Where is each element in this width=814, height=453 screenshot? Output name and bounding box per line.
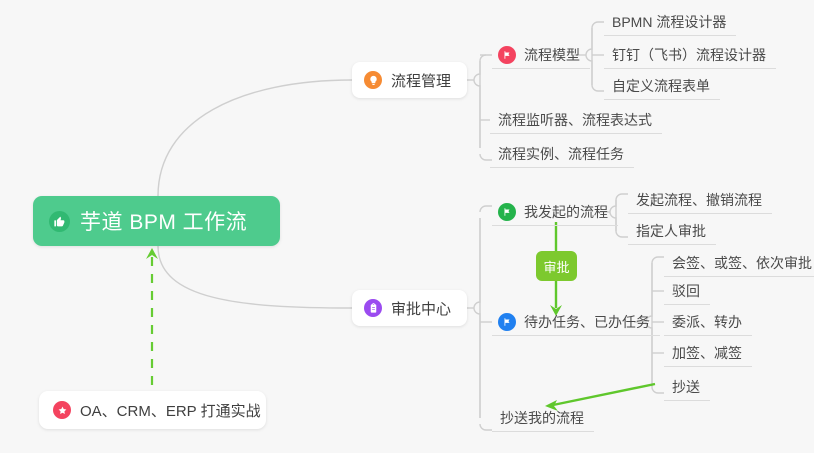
node-label: 我发起的流程 (524, 202, 608, 222)
node-reject[interactable]: 驳回 (664, 277, 710, 305)
node-label: 自定义流程表单 (612, 76, 710, 96)
root-node[interactable]: 芋道 BPM 工作流 (33, 196, 280, 246)
node-add-remove-sign[interactable]: 加签、减签 (664, 339, 752, 367)
approval-badge: 审批 (536, 251, 577, 281)
node-start-cancel-process[interactable]: 发起流程、撤销流程 (628, 186, 772, 214)
badge-label: 审批 (543, 257, 569, 276)
node-cc-to-me[interactable]: 抄送我的流程 (492, 404, 594, 432)
node-bpmn-designer[interactable]: BPMN 流程设计器 (604, 8, 736, 36)
node-label: 驳回 (672, 281, 700, 301)
flag-blue-icon (498, 313, 516, 331)
node-label: 流程模型 (524, 45, 580, 65)
node-label: 流程监听器、流程表达式 (498, 110, 652, 130)
node-label: 流程实例、流程任务 (498, 144, 624, 164)
thumbs-up-icon (49, 211, 70, 232)
note-to-root-arrow (146, 248, 158, 385)
node-process-model[interactable]: 流程模型 (492, 41, 590, 69)
flag-red-icon (498, 46, 516, 64)
lightbulb-icon (364, 71, 382, 89)
node-process-listener[interactable]: 流程监听器、流程表达式 (490, 106, 662, 134)
branch-label: 流程管理 (391, 70, 451, 91)
node-label: 抄送我的流程 (500, 408, 584, 428)
mindmap-canvas: 芋道 BPM 工作流 流程管理 流程模型 BPMN 流程设计器 钉钉（飞书）流程… (0, 0, 814, 453)
node-label: BPMN 流程设计器 (612, 12, 726, 32)
node-delegate-transfer[interactable]: 委派、转办 (664, 308, 752, 336)
node-process-instance[interactable]: 流程实例、流程任务 (490, 140, 634, 168)
node-todo-done-tasks[interactable]: 待办任务、已办任务 (492, 308, 660, 336)
node-label: 抄送 (672, 377, 700, 397)
node-my-initiated[interactable]: 我发起的流程 (492, 198, 618, 226)
root-label: 芋道 BPM 工作流 (80, 206, 247, 236)
node-dingtalk-designer[interactable]: 钉钉（飞书）流程设计器 (604, 41, 776, 69)
node-countersign[interactable]: 会签、或签、依次审批 (664, 249, 814, 277)
clipboard-icon (364, 299, 382, 317)
node-label: 会签、或签、依次审批 (672, 253, 812, 273)
node-label: 委派、转办 (672, 312, 742, 332)
branch-process-management[interactable]: 流程管理 (352, 62, 467, 98)
node-label: 发起流程、撤销流程 (636, 190, 762, 210)
integration-note[interactable]: OA、CRM、ERP 打通实战 (39, 391, 266, 429)
node-label: 加签、减签 (672, 343, 742, 363)
node-cc[interactable]: 抄送 (664, 373, 710, 401)
branch-label: 审批中心 (391, 298, 451, 319)
node-label: 钉钉（飞书）流程设计器 (612, 45, 766, 65)
node-custom-form[interactable]: 自定义流程表单 (604, 72, 720, 100)
note-label: OA、CRM、ERP 打通实战 (80, 400, 261, 421)
flag-green-icon (498, 203, 516, 221)
branch-approval-center[interactable]: 审批中心 (352, 290, 467, 326)
node-label: 指定人审批 (636, 221, 706, 241)
star-icon (53, 401, 71, 419)
node-assignee-approval[interactable]: 指定人审批 (628, 217, 716, 245)
node-label: 待办任务、已办任务 (524, 312, 650, 332)
